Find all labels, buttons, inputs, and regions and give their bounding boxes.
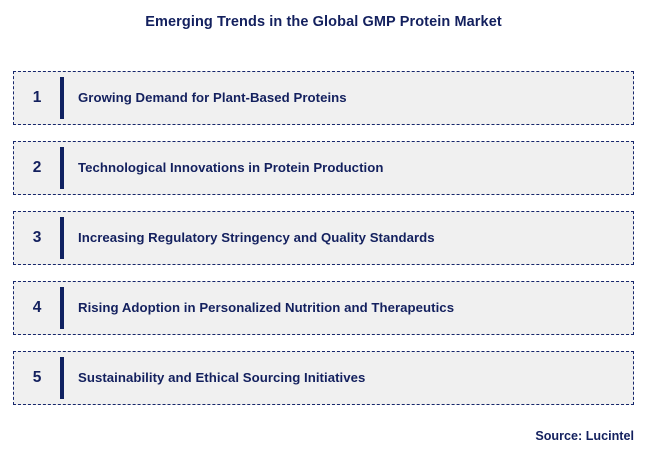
trend-number: 2	[14, 160, 60, 176]
trend-number: 3	[14, 230, 60, 246]
list-item: 5 Sustainability and Ethical Sourcing In…	[13, 351, 634, 405]
trend-number: 5	[14, 370, 60, 386]
list-item: 2 Technological Innovations in Protein P…	[13, 141, 634, 195]
vertical-divider-bar	[60, 147, 64, 189]
page-title: Emerging Trends in the Global GMP Protei…	[0, 14, 647, 30]
trend-label: Increasing Regulatory Stringency and Qua…	[78, 231, 633, 246]
trend-list: 1 Growing Demand for Plant-Based Protein…	[13, 71, 634, 405]
trend-label: Technological Innovations in Protein Pro…	[78, 161, 633, 176]
source-attribution: Source: Lucintel	[535, 429, 634, 443]
trend-number: 4	[14, 300, 60, 316]
infographic-root: Emerging Trends in the Global GMP Protei…	[0, 0, 647, 454]
vertical-divider-bar	[60, 287, 64, 329]
vertical-divider-bar	[60, 357, 64, 399]
list-item: 1 Growing Demand for Plant-Based Protein…	[13, 71, 634, 125]
list-item: 4 Rising Adoption in Personalized Nutrit…	[13, 281, 634, 335]
trend-number: 1	[14, 90, 60, 106]
vertical-divider-bar	[60, 217, 64, 259]
trend-label: Rising Adoption in Personalized Nutritio…	[78, 301, 633, 316]
trend-label: Sustainability and Ethical Sourcing Init…	[78, 371, 633, 386]
trend-label: Growing Demand for Plant-Based Proteins	[78, 91, 633, 106]
vertical-divider-bar	[60, 77, 64, 119]
list-item: 3 Increasing Regulatory Stringency and Q…	[13, 211, 634, 265]
